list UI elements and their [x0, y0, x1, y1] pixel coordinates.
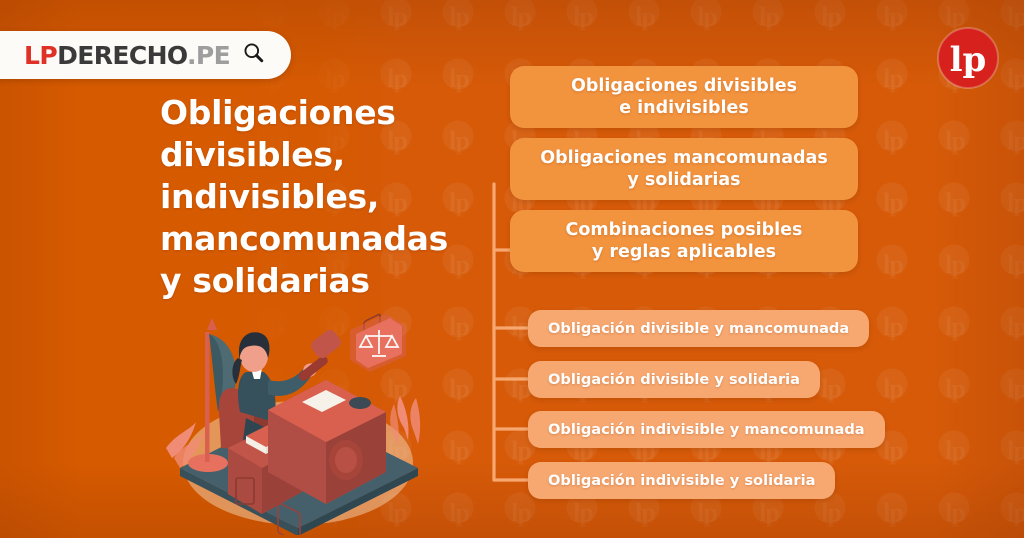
tree-node-sub-3-label: Obligación indivisible y mancomunada — [548, 421, 865, 439]
page-title: Obligaciones divisibles, indivisibles, m… — [160, 92, 490, 302]
tree-node-main-3-line-2: y reglas aplicables — [566, 241, 803, 263]
tree-node-sub-4-label: Obligación indivisible y solidaria — [548, 472, 815, 490]
lp-logo-text: lp — [950, 40, 987, 80]
tree-connectors — [488, 66, 948, 516]
brand-wordmark: LPDERECHO.PE — [24, 41, 230, 70]
headline-line-2: divisibles, — [160, 134, 490, 176]
tree-node-main-3[interactable]: Combinaciones posibles y reglas aplicabl… — [510, 210, 858, 272]
headline-line-3: indivisibles, — [160, 176, 490, 218]
tree-node-sub-1-label: Obligación divisible y mancomunada — [548, 320, 849, 338]
judge-at-bench-illustration — [150, 300, 440, 535]
brand-dot-text: . — [187, 41, 196, 70]
tree-node-main-1-line-1: Obligaciones divisibles — [571, 75, 797, 97]
tree-node-main-2[interactable]: Obligaciones mancomunadas y solidarias — [510, 138, 858, 200]
headline-line-1: Obligaciones — [160, 92, 490, 134]
search-icon[interactable] — [242, 41, 265, 69]
headline-line-4: mancomunadas — [160, 218, 490, 260]
brand-lp-text: LP — [24, 41, 57, 70]
tree-node-sub-2-label: Obligación divisible y solidaria — [548, 371, 800, 389]
brand-pill[interactable]: LPDERECHO.PE — [0, 31, 291, 79]
gavel-icon — [297, 328, 343, 383]
brand-pe-text: PE — [196, 41, 230, 70]
tree-node-main-1[interactable]: Obligaciones divisibles e indivisibles — [510, 66, 858, 128]
tree-node-sub-3[interactable]: Obligación indivisible y mancomunada — [528, 411, 885, 448]
tree-node-sub-4[interactable]: Obligación indivisible y solidaria — [528, 462, 835, 499]
scales-of-justice-icon — [350, 314, 406, 372]
infographic-canvas: lplplplplplplplplplplplplplplplplplplplp… — [0, 0, 1024, 538]
tree-node-main-2-line-1: Obligaciones mancomunadas — [540, 147, 828, 169]
tree-node-sub-1[interactable]: Obligación divisible y mancomunada — [528, 310, 869, 347]
topic-tree: Obligaciones divisibles e indivisibles O… — [488, 66, 948, 516]
tree-node-main-2-line-2: y solidarias — [540, 169, 828, 191]
tree-node-main-3-line-1: Combinaciones posibles — [566, 219, 803, 241]
headline-line-5: y solidarias — [160, 260, 490, 302]
brand-derecho-text: DERECHO — [57, 41, 187, 70]
tree-node-sub-2[interactable]: Obligación divisible y solidaria — [528, 361, 820, 398]
tree-node-main-1-line-2: e indivisibles — [571, 97, 797, 119]
